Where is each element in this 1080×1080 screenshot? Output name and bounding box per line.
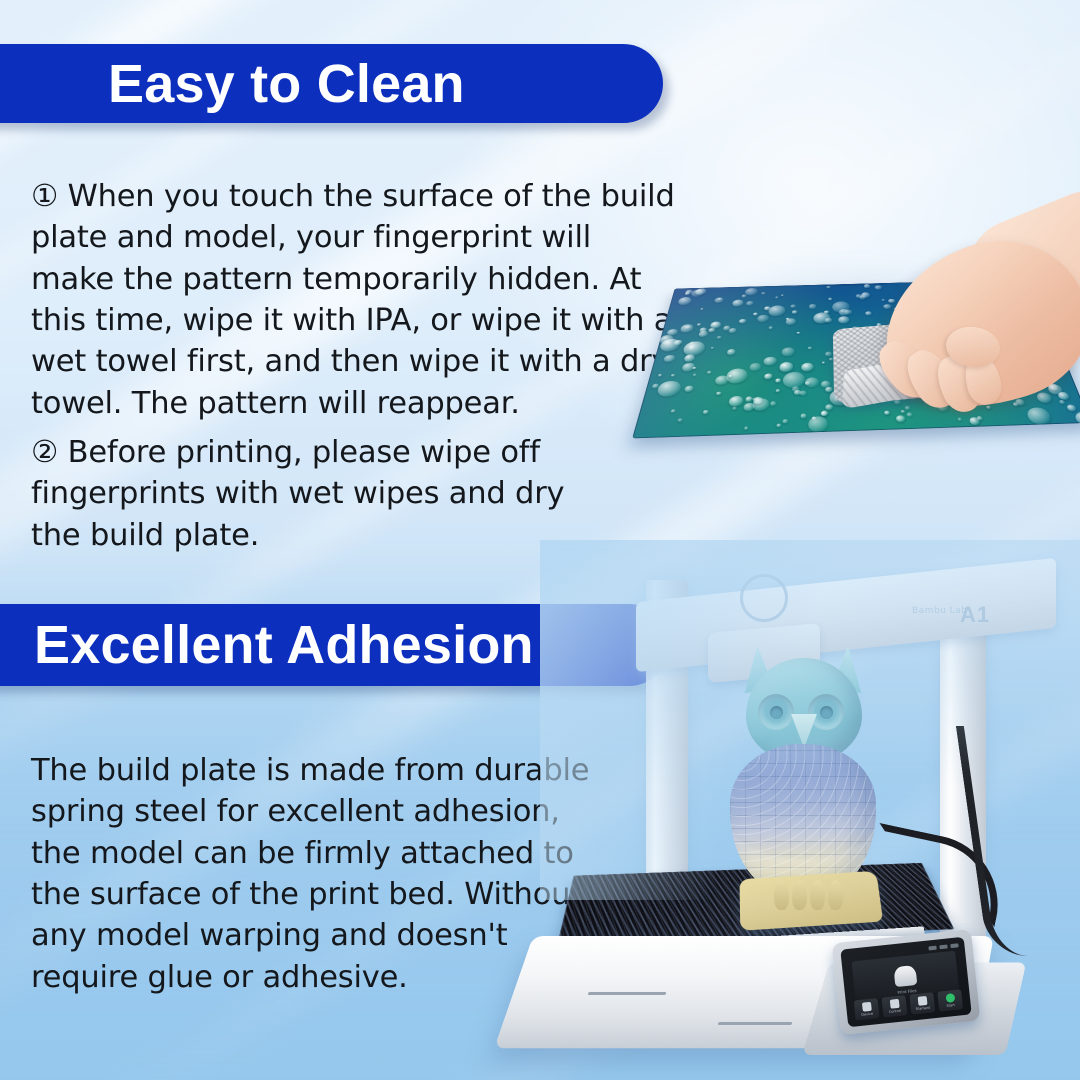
paragraph-adhesion-text: The build plate is made from durable spr…: [31, 750, 596, 998]
printer-touchscreen[interactable]: Print Files Device Control Filament: [832, 929, 981, 1035]
play-icon: [945, 993, 955, 1003]
touchscreen-button-control-label: Control: [889, 1009, 902, 1014]
filament-icon: [917, 996, 927, 1006]
owl-talon: [774, 880, 789, 910]
touchscreen-display[interactable]: Print Files Device Control Filament: [840, 937, 971, 1028]
banner-easy-to-clean-label: Easy to Clean: [0, 53, 465, 115]
touchscreen-button-device-label: Device: [861, 1012, 873, 1017]
paragraph-clean-1-text: ① When you touch the surface of the buil…: [31, 176, 679, 424]
product-feature-page: Easy to Clean ① When you touch the surfa…: [0, 0, 1080, 1080]
print-object-icon: [893, 965, 917, 987]
touchscreen-button-device[interactable]: Device: [854, 998, 880, 1020]
touchscreen-button-start-label: Start: [946, 1003, 955, 1008]
owl-talon: [828, 880, 843, 910]
owl-talon: [792, 880, 807, 910]
paragraph-clean-2: ② Before printing, please wipe off finge…: [31, 432, 591, 556]
wifi-icon: [928, 946, 936, 951]
owl-eye-left: [758, 694, 794, 730]
build-plate-wipe-photo: [646, 215, 1080, 473]
printer-owl-photo: Bambu Lab A1: [540, 540, 1080, 1080]
owl-talon: [810, 880, 825, 910]
touchscreen-button-filament-label: Filament: [915, 1006, 930, 1011]
paragraph-clean-2-text: ② Before printing, please wipe off finge…: [31, 432, 591, 556]
battery-icon: [950, 943, 958, 948]
device-icon: [861, 1002, 871, 1012]
owl-model: [730, 658, 876, 918]
banner-excellent-adhesion-label: Excellent Adhesion: [0, 614, 534, 676]
banner-easy-to-clean: Easy to Clean: [0, 44, 663, 123]
paragraph-clean-1: ① When you touch the surface of the buil…: [31, 176, 679, 424]
control-icon: [889, 999, 899, 1009]
touchscreen-button-start[interactable]: Start: [937, 989, 963, 1011]
printer-base-rail: [718, 1022, 793, 1025]
touchscreen-button-control[interactable]: Control: [882, 995, 908, 1017]
paragraph-adhesion: The build plate is made from durable spr…: [31, 750, 596, 998]
owl-eye-right: [808, 694, 844, 730]
signal-icon: [939, 944, 947, 949]
gantry-model-label: A1: [960, 602, 990, 628]
printer-base-rail: [588, 992, 667, 995]
touchscreen-button-filament[interactable]: Filament: [909, 992, 935, 1014]
gantry-fan-icon: [740, 574, 788, 622]
